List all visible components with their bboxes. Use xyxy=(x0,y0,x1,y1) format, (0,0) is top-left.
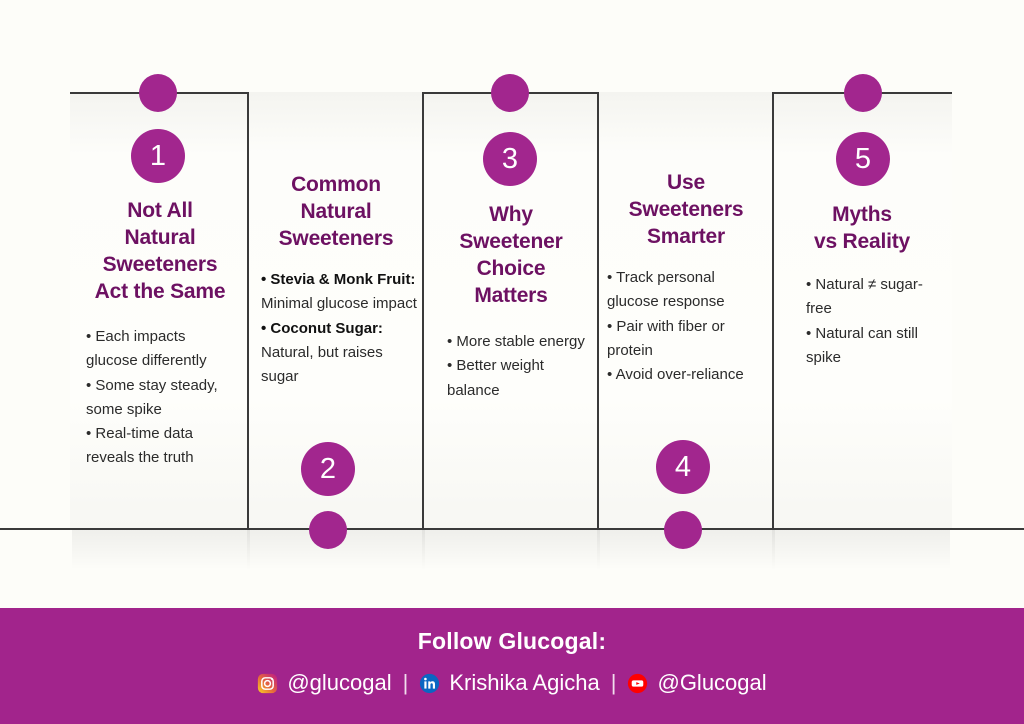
step-number-badge-5: 5 xyxy=(836,132,890,186)
bullet-item: • Pair with fiber or protein xyxy=(607,315,765,364)
step-number-badge-1: 1 xyxy=(131,129,185,183)
heading-line: Use xyxy=(599,170,773,197)
step-bullets-4: • Track personal glucose response • Pair… xyxy=(607,266,765,387)
infographic-canvas: 1 Not All Natural Sweeteners Act the Sam… xyxy=(0,0,1024,724)
step-heading-3: Why Sweetener Choice Matters xyxy=(424,202,598,310)
step-bullets-5: • Natural ≠ sugar-free • Natural can sti… xyxy=(806,273,946,370)
footer-social-row: @glucogal | Krishika Agicha | xyxy=(0,670,1024,696)
bullet-item: • Track personal glucose response xyxy=(607,266,765,315)
footer-separator: | xyxy=(609,670,619,696)
heading-line: Act the Same xyxy=(72,279,248,306)
youtube-icon xyxy=(627,673,648,694)
linkedin-handle: Krishika Agicha xyxy=(449,670,599,696)
edge-rule-right xyxy=(950,528,1024,530)
heading-line: Common xyxy=(250,172,422,199)
social-link-youtube[interactable]: @Glucogal xyxy=(627,670,766,696)
connector-dot-2 xyxy=(309,511,347,549)
social-link-linkedin[interactable]: Krishika Agicha xyxy=(419,670,599,696)
bullet-lead: • Coconut Sugar: xyxy=(261,320,383,337)
heading-line: Choice xyxy=(424,256,598,283)
heading-line: Matters xyxy=(424,283,598,310)
social-link-instagram[interactable]: @glucogal xyxy=(257,670,391,696)
connector-dot-3 xyxy=(491,74,529,112)
heading-line: Sweetener xyxy=(424,229,598,256)
column-shadow-3 xyxy=(422,530,600,570)
bullet-item: • More stable energy xyxy=(447,330,595,354)
step-bullets-1: • Each impacts glucose differently • Som… xyxy=(86,325,241,471)
instagram-icon xyxy=(257,673,278,694)
heading-line: Why xyxy=(424,202,598,229)
bullet-lead: • Stevia & Monk Fruit: xyxy=(261,271,415,288)
step-number-badge-2: 2 xyxy=(301,442,355,496)
bullet-text: Natural, but raises sugar xyxy=(261,344,383,385)
connector-dot-5 xyxy=(844,74,882,112)
heading-line: Sweeteners xyxy=(72,252,248,279)
linkedin-icon xyxy=(419,673,440,694)
heading-line: Smarter xyxy=(599,224,773,251)
heading-line: Sweeteners xyxy=(599,197,773,224)
bullet-item: • Some stay steady, some spike xyxy=(86,374,241,423)
bullet-item: • Natural ≠ sugar-free xyxy=(806,273,946,322)
footer-title: Follow Glucogal: xyxy=(0,628,1024,655)
heading-line: vs Reality xyxy=(774,229,950,256)
heading-line: Natural xyxy=(250,199,422,226)
footer-bar: Follow Glucogal: xyxy=(0,608,1024,724)
step-bullets-3: • More stable energy • Better weight bal… xyxy=(447,330,595,403)
step-heading-1: Not All Natural Sweeteners Act the Same xyxy=(72,198,248,306)
column-shadow-5 xyxy=(772,530,950,570)
bullet-item: • Real-time data reveals the truth xyxy=(86,422,241,471)
step-number-badge-4: 4 xyxy=(656,440,710,494)
heading-line: Myths xyxy=(774,202,950,229)
instagram-handle: @glucogal xyxy=(287,670,391,696)
bullet-item: • Better weight balance xyxy=(447,354,595,403)
connector-dot-4 xyxy=(664,511,702,549)
step-number-badge-3: 3 xyxy=(483,132,537,186)
step-heading-5: Myths vs Reality xyxy=(774,202,950,256)
footer-separator: | xyxy=(401,670,411,696)
edge-rule-left xyxy=(0,528,72,530)
bullet-text: Minimal glucose impact xyxy=(261,295,417,312)
youtube-handle: @Glucogal xyxy=(657,670,766,696)
step-heading-2: Common Natural Sweeteners xyxy=(250,172,422,253)
heading-line: Sweeteners xyxy=(250,226,422,253)
bullet-item: • Natural can still spike xyxy=(806,322,946,371)
bullet-item: • Each impacts glucose differently xyxy=(86,325,241,374)
bullet-item: • Avoid over-reliance xyxy=(607,363,765,387)
heading-line: Natural xyxy=(72,225,248,252)
step-bullets-2: • Stevia & Monk Fruit: Minimal glucose i… xyxy=(261,268,419,389)
step-heading-4: Use Sweeteners Smarter xyxy=(599,170,773,251)
column-shadow-1 xyxy=(72,530,250,570)
bullet-item: • Stevia & Monk Fruit: Minimal glucose i… xyxy=(261,268,419,317)
connector-dot-1 xyxy=(139,74,177,112)
bullet-item: • Coconut Sugar: Natural, but raises sug… xyxy=(261,317,419,390)
heading-line: Not All xyxy=(72,198,248,225)
